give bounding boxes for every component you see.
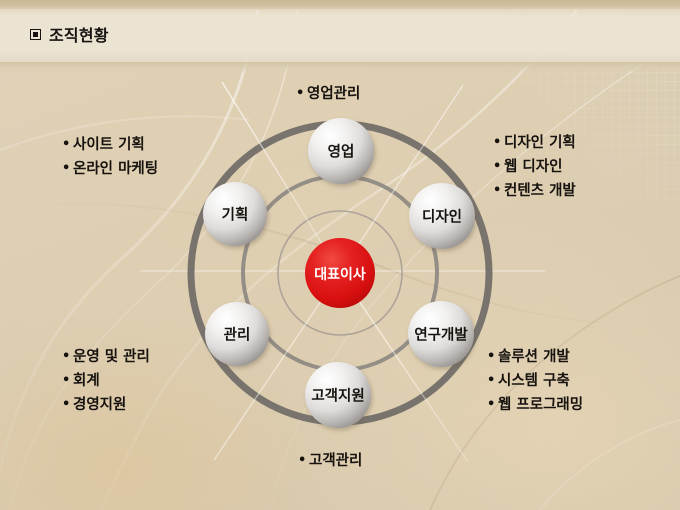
- filled-square-bullet-icon: [30, 29, 41, 40]
- node-support[interactable]: [305, 362, 371, 428]
- callout-sales: 영업관리: [296, 82, 360, 106]
- callout-admin-line-1: 운영 및 관리: [62, 345, 150, 369]
- callout-rnd-line-3: 웹 프로그래밍: [487, 393, 583, 417]
- callout-sales-line-1: 영업관리: [296, 82, 360, 106]
- callout-support: 고객관리: [298, 449, 362, 473]
- callout-design: 디자인 기획 웹 디자인 컨텐츠 개발: [493, 131, 576, 203]
- node-ceo[interactable]: [305, 238, 375, 308]
- callout-design-line-1: 디자인 기획: [493, 131, 576, 155]
- callout-admin: 운영 및 관리 회계 경영지원: [62, 345, 150, 417]
- page-title: 조직현황: [30, 22, 109, 46]
- node-planning[interactable]: [203, 182, 267, 246]
- callout-rnd: 솔루션 개발 시스템 구축 웹 프로그래밍: [487, 345, 583, 417]
- callout-rnd-line-1: 솔루션 개발: [487, 345, 583, 369]
- page-title-label: 조직현황: [49, 22, 109, 46]
- callout-planning-line-2: 온라인 마케팅: [62, 157, 158, 181]
- callout-design-line-3: 컨텐츠 개발: [493, 179, 576, 203]
- node-rnd[interactable]: [408, 301, 474, 367]
- node-design[interactable]: [409, 183, 475, 249]
- callout-rnd-line-2: 시스템 구축: [487, 369, 583, 393]
- node-sales[interactable]: [308, 118, 374, 184]
- callout-admin-line-3: 경영지원: [62, 393, 150, 417]
- org-chart-diagram: [0, 0, 680, 510]
- callout-planning-line-1: 사이트 기획: [62, 133, 158, 157]
- callout-design-line-2: 웹 디자인: [493, 155, 576, 179]
- node-admin[interactable]: [205, 302, 269, 366]
- callout-support-line-1: 고객관리: [298, 449, 362, 473]
- callout-planning: 사이트 기획 온라인 마케팅: [62, 133, 158, 181]
- slide-canvas: 조직현황: [0, 0, 680, 510]
- callout-admin-line-2: 회계: [62, 369, 150, 393]
